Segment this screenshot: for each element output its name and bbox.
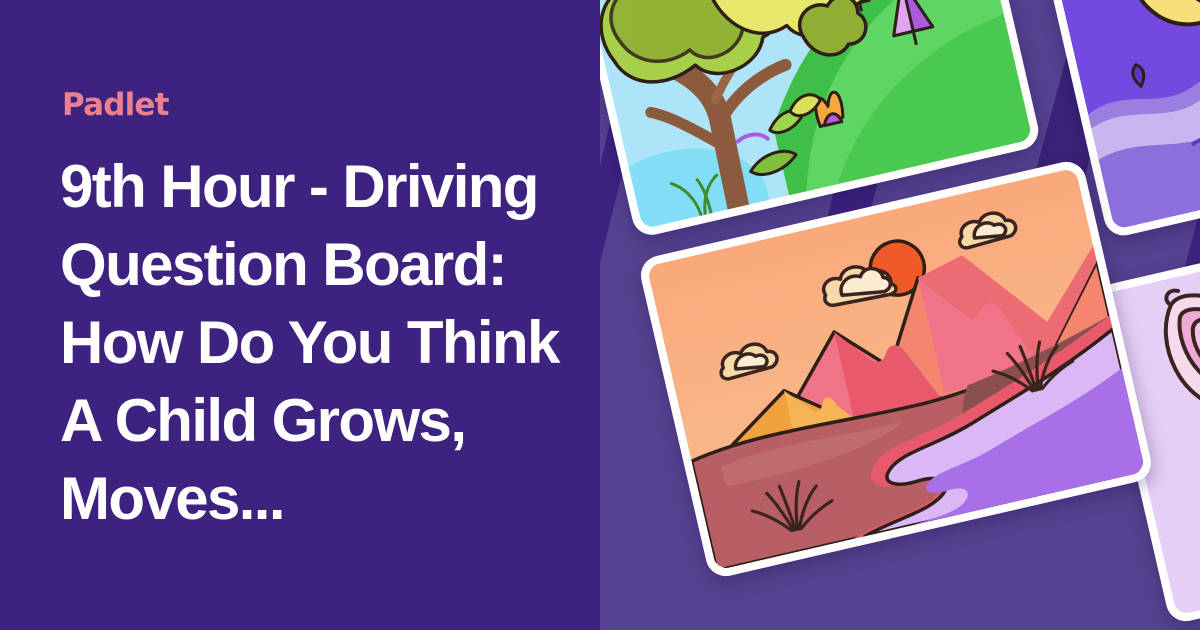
page-title: 9th Hour - Driving Question Board: How D… xyxy=(60,148,580,538)
left-text-panel: Padlet 9th Hour - Driving Question Board… xyxy=(0,0,600,630)
padlet-logo[interactable]: Padlet xyxy=(62,90,169,121)
og-share-card: Padlet 9th Hour - Driving Question Board… xyxy=(0,0,1200,630)
